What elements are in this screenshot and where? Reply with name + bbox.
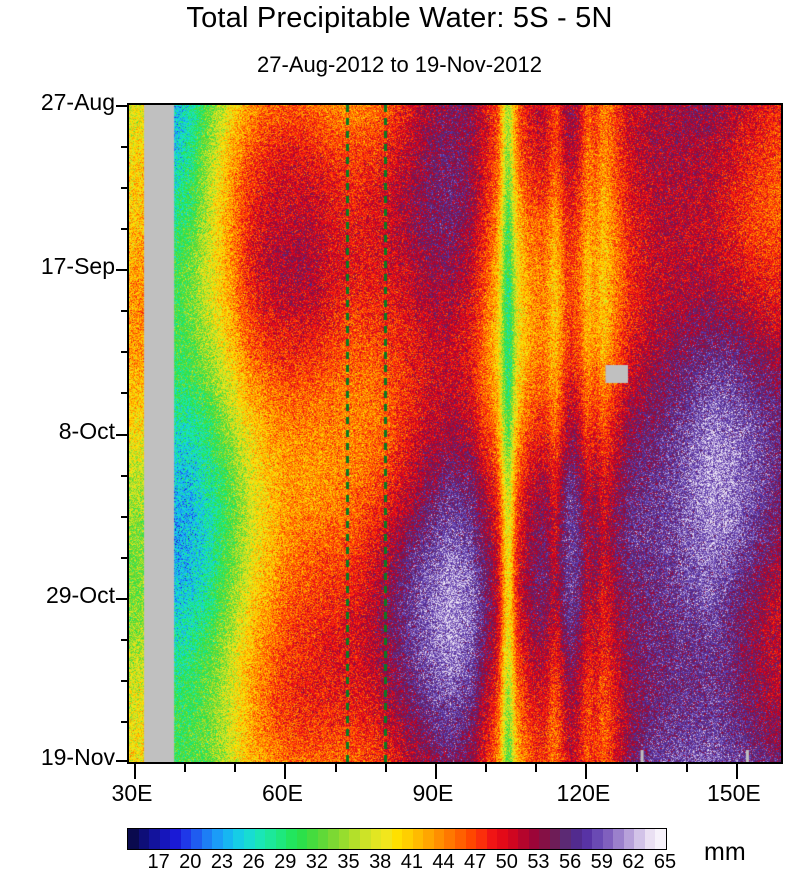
- heatmap-canvas: [129, 105, 781, 762]
- y-tick-label: 17-Sep: [0, 253, 115, 280]
- x-tick-minor: [335, 762, 337, 772]
- x-tick-minor: [636, 762, 638, 772]
- y-tick-minor: [121, 392, 129, 394]
- colorbar-legend[interactable]: 1720232629323538414447505356596265: [127, 828, 667, 850]
- colorbar-cell: [286, 829, 297, 849]
- y-tick-minor: [121, 228, 129, 230]
- colorbar-cell: [423, 829, 434, 849]
- colorbar-cell: [476, 829, 487, 849]
- y-tick-minor: [121, 680, 129, 682]
- x-tick-major: [736, 762, 738, 779]
- y-tick-label: 29-Oct: [0, 582, 115, 609]
- colorbar-cell: [613, 829, 624, 849]
- colorbar-cell: [444, 829, 455, 849]
- colorbar-cell: [518, 829, 529, 849]
- colorbar-cell: [529, 829, 540, 849]
- x-tick-label: 60E: [222, 780, 342, 807]
- colorbar-cell: [371, 829, 382, 849]
- colorbar-cell: [297, 829, 308, 849]
- colorbar-cell: [550, 829, 561, 849]
- colorbar-cell: [223, 829, 234, 849]
- colorbar-cell: [191, 829, 202, 849]
- colorbar-cell: [149, 829, 160, 849]
- colorbar-cell: [328, 829, 339, 849]
- y-tick-label: 8-Oct: [0, 418, 115, 445]
- colorbar-cell: [645, 829, 656, 849]
- x-tick-label: 150E: [674, 780, 794, 807]
- colorbar-cell: [592, 829, 603, 849]
- y-tick-label: 19-Nov: [0, 744, 115, 771]
- hovmoller-plot-frame: [127, 103, 783, 764]
- colorbar-cell: [381, 829, 392, 849]
- colorbar-cell: [455, 829, 466, 849]
- colorbar-cell: [160, 829, 171, 849]
- colorbar-cell: [360, 829, 371, 849]
- colorbar-cell: [202, 829, 213, 849]
- x-tick-major: [435, 762, 437, 779]
- colorbar-cell: [265, 829, 276, 849]
- x-tick-major: [284, 762, 286, 779]
- y-tick-minor: [121, 557, 129, 559]
- colorbar-cell: [212, 829, 223, 849]
- x-tick-minor: [485, 762, 487, 772]
- y-tick-major: [116, 434, 129, 436]
- y-tick-minor: [121, 721, 129, 723]
- x-tick-major: [585, 762, 587, 779]
- x-tick-minor: [535, 762, 537, 772]
- page-title: Total Precipitable Water: 5S - 5N: [0, 2, 799, 35]
- colorbar-cell: [539, 829, 550, 849]
- y-tick-minor: [121, 187, 129, 189]
- colorbar-cell: [582, 829, 593, 849]
- colorbar-cell: [276, 829, 287, 849]
- colorbar-cell: [244, 829, 255, 849]
- colorbar-cell: [307, 829, 318, 849]
- x-tick-label: 90E: [373, 780, 493, 807]
- colorbar-cell: [392, 829, 403, 849]
- y-axis-labels: 27-Aug17-Sep8-Oct29-Oct19-Nov: [0, 103, 115, 760]
- colorbar-cell: [233, 829, 244, 849]
- y-tick-minor: [121, 639, 129, 641]
- x-tick-label: 30E: [72, 780, 192, 807]
- y-tick-major: [116, 598, 129, 600]
- y-tick-minor: [121, 475, 129, 477]
- colorbar-cell: [508, 829, 519, 849]
- x-tick-minor: [686, 762, 688, 772]
- hovmoller-heatmap[interactable]: [129, 105, 781, 762]
- colorbar-cell: [655, 829, 666, 849]
- colorbar-cell: [318, 829, 329, 849]
- colorbar-cell: [181, 829, 192, 849]
- colorbar-cell: [139, 829, 150, 849]
- colorbar-cell: [413, 829, 424, 849]
- colorbar-cell: [339, 829, 350, 849]
- y-tick-major: [116, 269, 129, 271]
- colorbar-cell: [624, 829, 635, 849]
- y-tick-minor: [121, 146, 129, 148]
- colorbar-cell: [571, 829, 582, 849]
- y-tick-major: [116, 105, 129, 107]
- y-tick-minor: [121, 310, 129, 312]
- x-tick-minor: [184, 762, 186, 772]
- y-tick-major: [116, 760, 129, 762]
- colorbar-swatches[interactable]: [127, 828, 667, 850]
- colorbar-cell: [402, 829, 413, 849]
- y-tick-minor: [121, 516, 129, 518]
- x-tick-label: 120E: [523, 780, 643, 807]
- colorbar-cell: [128, 829, 139, 849]
- y-tick-label: 27-Aug: [0, 89, 115, 116]
- colorbar-cell: [170, 829, 181, 849]
- colorbar-cell: [560, 829, 571, 849]
- colorbar-cell: [603, 829, 614, 849]
- x-tick-minor: [385, 762, 387, 772]
- colorbar-units-label: mm: [704, 838, 746, 867]
- colorbar-tick-label: 65: [635, 851, 695, 874]
- colorbar-cell: [497, 829, 508, 849]
- colorbar-cell: [466, 829, 477, 849]
- date-range-subtitle: 27-Aug-2012 to 19-Nov-2012: [0, 52, 799, 78]
- colorbar-cell: [634, 829, 645, 849]
- colorbar-cell: [255, 829, 266, 849]
- x-tick-major: [134, 762, 136, 779]
- x-axis-labels: 30E60E90E120E150E: [0, 780, 799, 814]
- colorbar-cell: [349, 829, 360, 849]
- y-tick-minor: [121, 351, 129, 353]
- colorbar-cell: [487, 829, 498, 849]
- x-tick-minor: [234, 762, 236, 772]
- colorbar-cell: [434, 829, 445, 849]
